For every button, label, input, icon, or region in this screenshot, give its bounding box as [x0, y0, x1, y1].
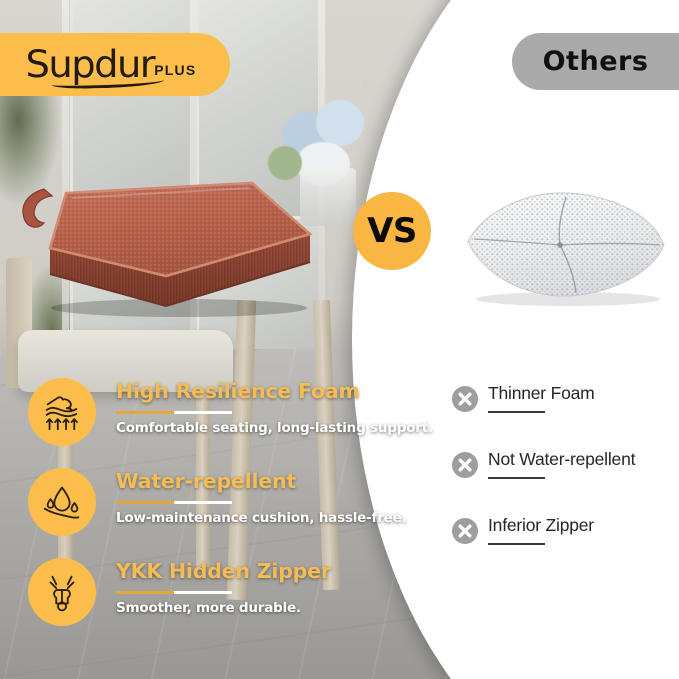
feature-item-water: Water-repellent Low-maintenance cushion,… — [28, 466, 373, 556]
drawback-title: Inferior Zipper — [488, 515, 594, 536]
comparison-infographic: Supdur PLUS Others VS — [0, 0, 679, 679]
versus-badge: VS — [353, 192, 431, 270]
water-droplet-icon — [28, 468, 96, 536]
competitor-cushion-image — [456, 183, 674, 308]
drawback-title: Not Water-repellent — [488, 449, 635, 470]
drawback-item-foam: Thinner Foam — [452, 386, 677, 452]
product-cushion-image — [14, 176, 319, 318]
feature-subtitle: Smoother, more durable. — [116, 600, 406, 616]
drawback-divider — [488, 543, 545, 545]
hand-on-foam-icon — [28, 378, 96, 446]
hydrangea-leaf — [268, 146, 302, 180]
drawback-divider — [488, 477, 545, 479]
feature-title: Water-repellent — [116, 470, 406, 494]
feature-item-foam: High Resilience Foam Comfortable seating… — [28, 376, 373, 466]
hydrangea-bloom — [316, 100, 364, 146]
versus-label: VS — [367, 211, 417, 251]
feature-list: High Resilience Foam Comfortable seating… — [28, 376, 373, 646]
drawback-item-water: Not Water-repellent — [452, 452, 677, 518]
brand-logo: Supdur PLUS — [0, 33, 230, 96]
drawback-divider — [488, 411, 545, 413]
cushion-tie — [23, 189, 52, 227]
feature-item-zipper: YKK Hidden Zipper Smoother, more durable… — [28, 556, 373, 646]
feature-divider — [116, 501, 232, 504]
feature-title: YKK Hidden Zipper — [116, 560, 406, 584]
feature-subtitle: Comfortable seating, long-lasting suppor… — [116, 420, 406, 436]
drawback-list: Thinner Foam Not Water-repellent — [452, 386, 677, 584]
cross-circle-icon — [452, 452, 478, 478]
brand-swoosh-icon — [52, 76, 164, 90]
zipper-icon — [28, 558, 96, 626]
feature-title: High Resilience Foam — [116, 380, 406, 404]
feature-subtitle: Low-maintenance cushion, hassle-free. — [116, 510, 406, 526]
others-label: Others — [543, 46, 649, 77]
cross-circle-icon — [452, 386, 478, 412]
feature-divider — [116, 411, 232, 414]
cross-circle-icon — [452, 518, 478, 544]
others-badge: Others — [512, 33, 679, 90]
feature-divider — [116, 591, 232, 594]
drawback-title: Thinner Foam — [488, 383, 595, 404]
drawback-item-zipper: Inferior Zipper — [452, 518, 677, 584]
